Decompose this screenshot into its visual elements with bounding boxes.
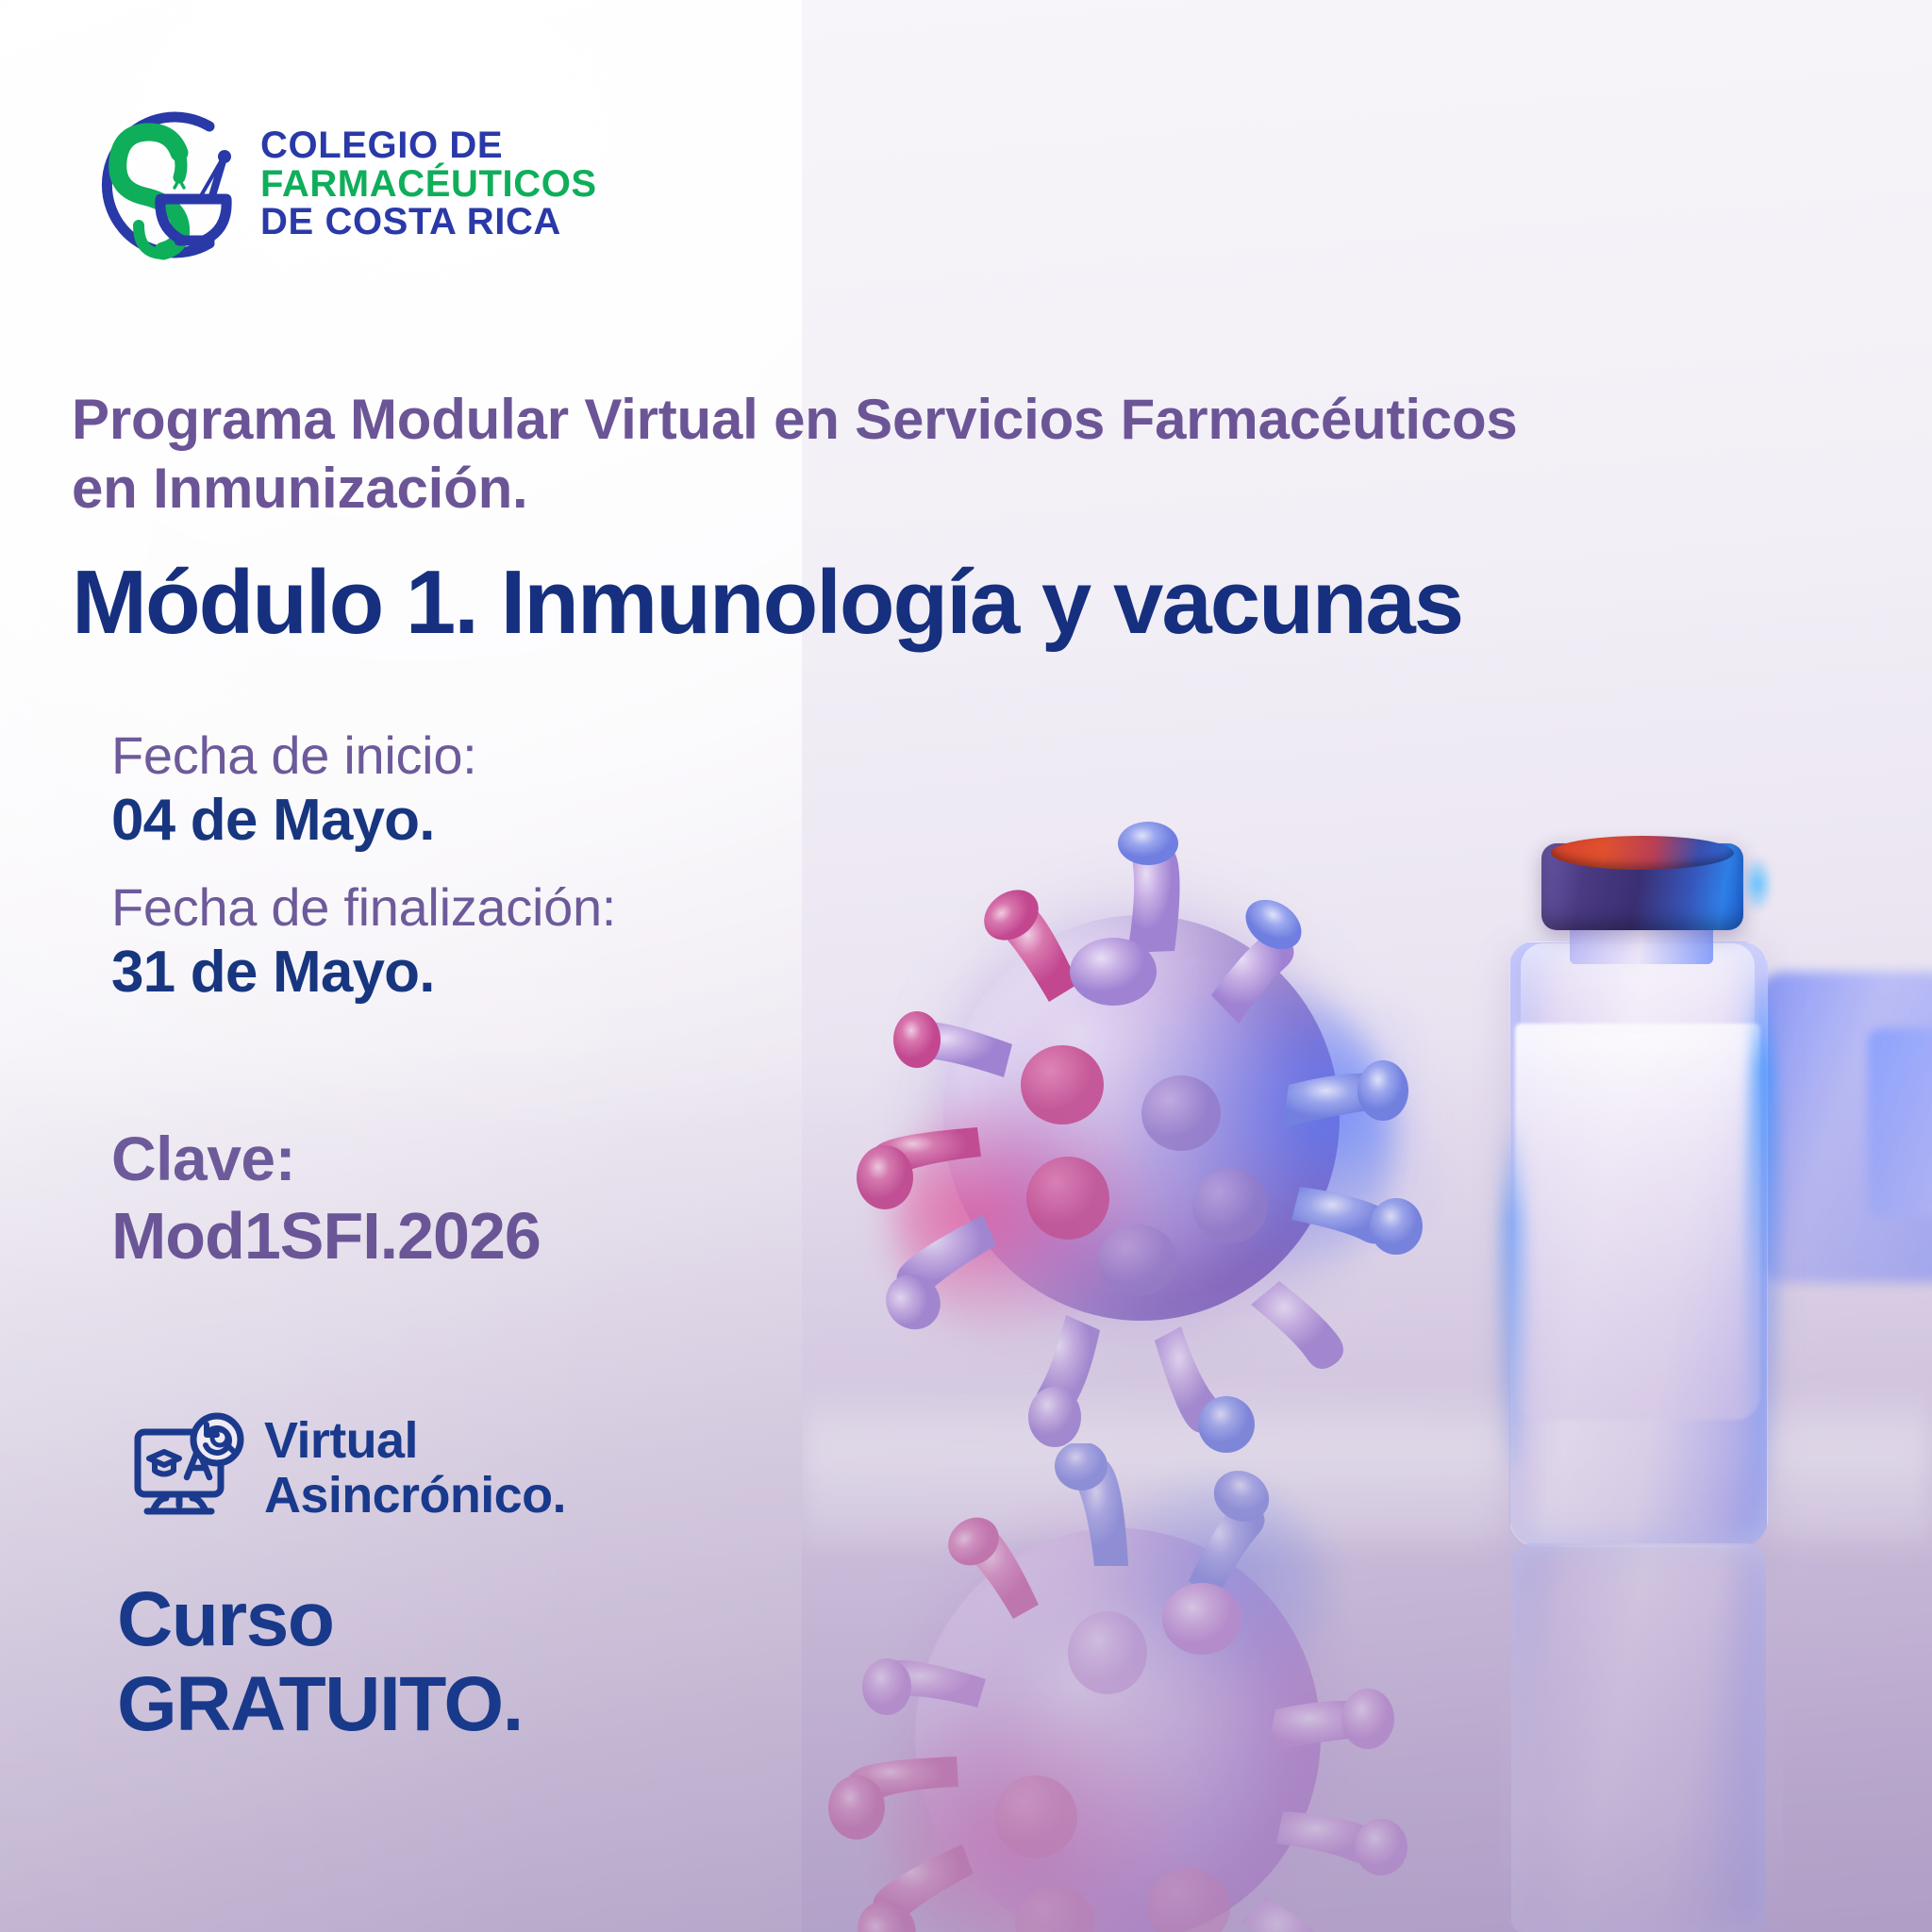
- brand-logo: COLEGIO DE FARMACÉUTICOS DE COSTA RICA: [68, 94, 597, 274]
- modality-badge: Virtual Asincrónico.: [132, 1411, 566, 1524]
- promotional-poster: COLEGIO DE FARMACÉUTICOS DE COSTA RICA P…: [0, 0, 1932, 1932]
- program-subtitle: Programa Modular Virtual en Servicios Fa…: [72, 385, 1732, 523]
- module-title: Módulo 1. Inmunología y vacunas: [72, 555, 1770, 651]
- pharmacy-mortar-serpent-logo-icon: [68, 94, 247, 274]
- monitor-graduation-cap-sync-icon: [132, 1411, 245, 1524]
- price-label: Curso GRATUITO.: [117, 1577, 523, 1747]
- content-column: COLEGIO DE FARMACÉUTICOS DE COSTA RICA P…: [0, 0, 943, 1932]
- end-date-value: 31 de Mayo.: [111, 938, 616, 1008]
- modality-label: Virtual Asincrónico.: [264, 1413, 566, 1524]
- enrollment-key-value: Mod1SFI.2026: [111, 1196, 541, 1275]
- brand-name-line-1: COLEGIO DE: [260, 126, 597, 165]
- start-date-value: 04 de Mayo.: [111, 786, 616, 856]
- brand-name-line-2: FARMACÉUTICOS: [260, 165, 597, 204]
- end-date-label: Fecha de finalización:: [111, 878, 616, 938]
- brand-name-line-3: DE COSTA RICA: [260, 203, 597, 241]
- brand-name: COLEGIO DE FARMACÉUTICOS DE COSTA RICA: [260, 126, 597, 241]
- dates-block: Fecha de inicio: 04 de Mayo. Fecha de fi…: [111, 726, 616, 1008]
- vial-cap-septum: [1551, 836, 1734, 870]
- vial-cap-specular: [1741, 855, 1774, 913]
- enrollment-key-block: Clave: Mod1SFI.2026: [111, 1123, 541, 1275]
- start-date-label: Fecha de inicio:: [111, 726, 616, 786]
- enrollment-key-label: Clave:: [111, 1123, 541, 1196]
